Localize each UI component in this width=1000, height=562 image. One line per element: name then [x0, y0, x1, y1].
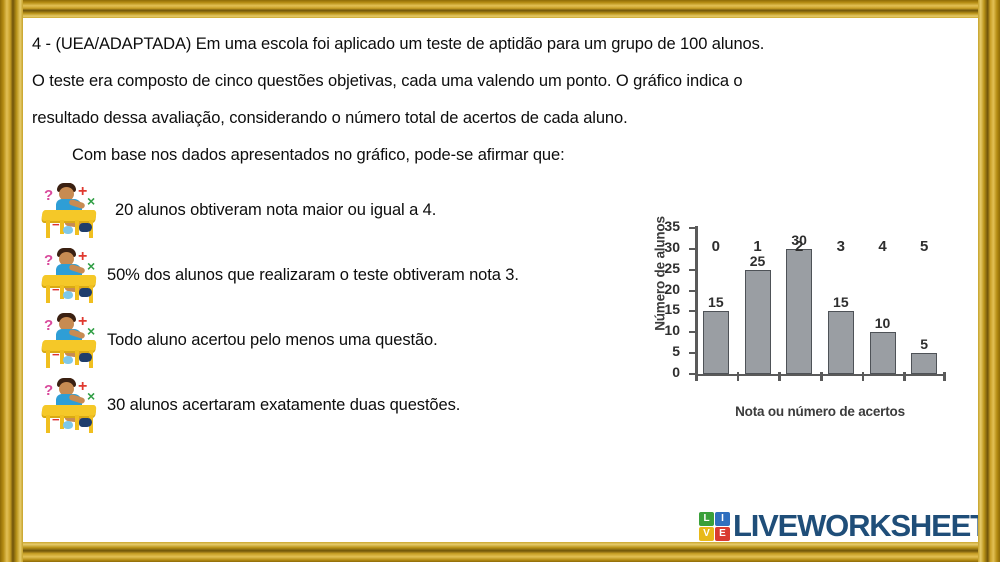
chart-bar-value: 5 [920, 336, 928, 352]
chart-x-axis-label: Nota ou número de acertos [695, 404, 945, 419]
chart-x-tick [778, 372, 781, 381]
chart-x-category-label: 2 [795, 238, 803, 255]
chart-x-tick [737, 372, 740, 381]
option-item[interactable]: ?! +× − 50% dos alunos que realizaram o … [23, 243, 643, 308]
option-item[interactable]: ?! +× − 30 alunos acertaram exatamente d… [23, 373, 643, 438]
student-at-desk-icon: ?! +× − [39, 375, 101, 437]
chart-y-tick: 30 [689, 248, 698, 250]
bar-chart: Número de alunos 05101520253035150251302… [633, 208, 963, 423]
frame-border-bottom [0, 542, 1000, 562]
logo-blocks: L I V E [699, 512, 730, 541]
chart-y-tick-label: 15 [664, 301, 680, 317]
logo-block-v: V [699, 527, 714, 541]
chart-y-tick: 25 [689, 269, 698, 271]
option-label: 30 alunos acertaram exatamente duas ques… [107, 396, 460, 415]
option-item[interactable]: ?! +× − Todo aluno acertou pelo menos um… [23, 308, 643, 373]
chart-y-tick: 5 [689, 352, 698, 354]
chart-x-tick [903, 372, 906, 381]
chart-x-category-label: 3 [837, 238, 845, 255]
frame-border-right [978, 0, 1000, 562]
chart-y-tick-label: 5 [672, 343, 680, 359]
chart-bar-value: 15 [708, 294, 724, 310]
chart-y-tick-label: 10 [664, 322, 680, 338]
chart-y-tick: 15 [689, 310, 698, 312]
question-statement: 4 - (UEA/ADAPTADA) Em uma escola foi apl… [32, 26, 962, 174]
chart-x-tick [943, 372, 946, 381]
liveworksheets-logo: L I V E LIVEWORKSHEETS [699, 506, 978, 542]
chart-y-tick-label: 0 [672, 364, 680, 380]
chart-x-category-label: 1 [753, 238, 761, 255]
chart-bar: 15 [828, 311, 854, 374]
statement-line-2: O teste era composto de cinco questões o… [32, 63, 962, 100]
chart-y-tick: 35 [689, 227, 698, 229]
chart-bar: 15 [703, 311, 729, 374]
option-item[interactable]: ?! +× − 20 alunos obtiveram nota maior o… [23, 178, 643, 243]
chart-x-tick [820, 372, 823, 381]
logo-block-i: I [715, 512, 730, 526]
chart-plot-area: 0510152025303515025130215310455 [695, 226, 945, 376]
student-at-desk-icon: ?! +× − [39, 310, 101, 372]
logo-block-l: L [699, 512, 714, 526]
statement-line-4: Com base nos dados apresentados no gráfi… [32, 137, 962, 174]
option-label: 20 alunos obtiveram nota maior ou igual … [115, 201, 436, 220]
chart-y-tick-label: 30 [664, 239, 680, 255]
chart-bar: 30 [786, 249, 812, 374]
frame-border-top [0, 0, 1000, 18]
chart-bar-value: 15 [833, 294, 849, 310]
chart-y-tick-label: 25 [664, 260, 680, 276]
chart-x-tick [862, 372, 865, 381]
option-label: Todo aluno acertou pelo menos uma questã… [107, 331, 438, 350]
statement-line-1: 4 - (UEA/ADAPTADA) Em uma escola foi apl… [32, 26, 962, 63]
logo-wordmark: LIVEWORKSHEETS [733, 508, 978, 542]
chart-x-tick [695, 372, 698, 381]
chart-bar-value: 25 [750, 253, 766, 269]
chart-x-category-label: 4 [878, 238, 886, 255]
logo-block-e: E [715, 527, 730, 541]
student-at-desk-icon: ?! +× − [39, 245, 101, 307]
options-list: ?! +× − 20 alunos obtiveram nota maior o… [23, 178, 643, 438]
chart-bar: 25 [745, 270, 771, 374]
student-at-desk-icon: ?! +× − [39, 180, 101, 242]
chart-y-tick-label: 35 [664, 218, 680, 234]
chart-bar: 5 [911, 353, 937, 374]
chart-y-tick-label: 20 [664, 281, 680, 297]
chart-x-category-label: 5 [920, 238, 928, 255]
sheet-content: 4 - (UEA/ADAPTADA) Em uma escola foi apl… [23, 18, 978, 542]
chart-x-category-label: 0 [712, 238, 720, 255]
chart-bar: 10 [870, 332, 896, 374]
chart-y-tick: 20 [689, 290, 698, 292]
option-label: 50% dos alunos que realizaram o teste ob… [107, 266, 519, 285]
chart-bar-value: 10 [875, 315, 891, 331]
frame-border-left [0, 0, 23, 562]
chart-y-tick: 10 [689, 331, 698, 333]
statement-line-3: resultado dessa avaliação, considerando … [32, 100, 962, 137]
worksheet-page: 4 - (UEA/ADAPTADA) Em uma escola foi apl… [0, 0, 1000, 562]
